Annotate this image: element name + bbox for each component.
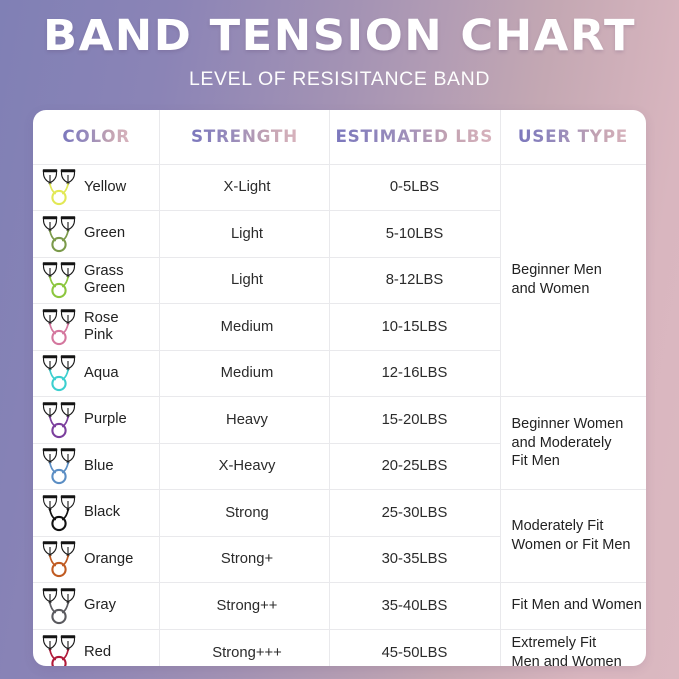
color-name-label: Green [84, 225, 125, 242]
color-cell-content: Yellow [41, 168, 159, 206]
resistance-band-icon [41, 308, 77, 346]
column-header-strength-label: STRENGTH [191, 127, 298, 146]
resistance-band-icon [41, 447, 77, 485]
color-name-label: Black [84, 504, 120, 521]
table-row: RedStrong+++45-50LBSExtremely FitMen and… [33, 629, 646, 666]
color-name-label: Aqua [84, 365, 119, 382]
cell-color: Blue [33, 443, 159, 490]
cell-strength: X-Heavy [159, 443, 329, 490]
cell-estimated-lbs: 35-40LBS [329, 583, 500, 630]
table-body: YellowX-Light0-5LBSBeginner Menand Women… [33, 164, 646, 666]
cell-color: Green [33, 211, 159, 258]
table-header: COLOR STRENGTH ESTIMATED LBS USER TYPE [33, 110, 646, 164]
table-row: GrayStrong++35-40LBSFit Men and Women [33, 583, 646, 630]
color-cell-content: Black [41, 494, 159, 532]
resistance-band-icon [41, 261, 77, 299]
cell-strength: X-Light [159, 164, 329, 211]
page-title: BAND TENSION CHART [0, 14, 679, 59]
cell-user-type: Moderately FitWomen or Fit Men [500, 490, 646, 583]
cell-strength: Light [159, 211, 329, 258]
column-header-color: COLOR [33, 110, 159, 164]
cell-user-type: Fit Men and Women [500, 583, 646, 630]
resistance-band-icon [41, 540, 77, 578]
cell-estimated-lbs: 30-35LBS [329, 536, 500, 583]
color-name-label: Blue [84, 458, 114, 475]
chart-card: COLOR STRENGTH ESTIMATED LBS USER TYPE Y… [33, 110, 646, 666]
cell-color: Gray [33, 583, 159, 630]
cell-estimated-lbs: 0-5LBS [329, 164, 500, 211]
column-header-user-type-label: USER TYPE [518, 127, 628, 146]
cell-color: Red [33, 629, 159, 666]
cell-user-type: Beginner Womenand ModeratelyFit Men [500, 397, 646, 490]
cell-color: Black [33, 490, 159, 537]
cell-strength: Strong+++ [159, 629, 329, 666]
cell-estimated-lbs: 8-12LBS [329, 257, 500, 304]
color-name-label: GrassGreen [84, 263, 125, 297]
resistance-band-icon [41, 587, 77, 625]
resistance-band-icon [41, 634, 77, 667]
column-header-user-type: USER TYPE [500, 110, 646, 164]
cell-estimated-lbs: 20-25LBS [329, 443, 500, 490]
cell-estimated-lbs: 45-50LBS [329, 629, 500, 666]
band-tension-table: COLOR STRENGTH ESTIMATED LBS USER TYPE Y… [33, 110, 646, 666]
cell-estimated-lbs: 10-15LBS [329, 304, 500, 351]
cell-strength: Light [159, 257, 329, 304]
color-cell-content: Aqua [41, 354, 159, 392]
cell-color: RosePink [33, 304, 159, 351]
cell-color: Purple [33, 397, 159, 444]
cell-color: Orange [33, 536, 159, 583]
cell-strength: Medium [159, 350, 329, 397]
color-cell-content: Blue [41, 447, 159, 485]
cell-estimated-lbs: 5-10LBS [329, 211, 500, 258]
color-cell-content: GrassGreen [41, 261, 159, 299]
cell-estimated-lbs: 15-20LBS [329, 397, 500, 444]
page-subtitle: LEVEL OF RESISITANCE BAND [0, 68, 679, 91]
table-row: PurpleHeavy15-20LBSBeginner Womenand Mod… [33, 397, 646, 444]
color-name-label: Red [84, 644, 111, 661]
cell-strength: Strong+ [159, 536, 329, 583]
table-row: YellowX-Light0-5LBSBeginner Menand Women [33, 164, 646, 211]
column-header-strength: STRENGTH [159, 110, 329, 164]
color-cell-content: Orange [41, 540, 159, 578]
color-name-label: RosePink [84, 310, 119, 344]
resistance-band-icon [41, 494, 77, 532]
table-header-row: COLOR STRENGTH ESTIMATED LBS USER TYPE [33, 110, 646, 164]
resistance-band-icon [41, 168, 77, 206]
color-name-label: Gray [84, 597, 116, 614]
cell-color: Aqua [33, 350, 159, 397]
page-header: BAND TENSION CHART LEVEL OF RESISITANCE … [0, 0, 679, 91]
cell-color: Yellow [33, 164, 159, 211]
resistance-band-icon [41, 401, 77, 439]
cell-estimated-lbs: 25-30LBS [329, 490, 500, 537]
color-cell-content: Red [41, 634, 159, 667]
color-name-label: Orange [84, 551, 133, 568]
table-row: BlackStrong25-30LBSModerately FitWomen o… [33, 490, 646, 537]
resistance-band-icon [41, 354, 77, 392]
cell-strength: Heavy [159, 397, 329, 444]
resistance-band-icon [41, 215, 77, 253]
color-cell-content: RosePink [41, 308, 159, 346]
cell-strength: Strong++ [159, 583, 329, 630]
cell-strength: Strong [159, 490, 329, 537]
cell-color: GrassGreen [33, 257, 159, 304]
cell-estimated-lbs: 12-16LBS [329, 350, 500, 397]
color-cell-content: Purple [41, 401, 159, 439]
color-cell-content: Green [41, 215, 159, 253]
column-header-estimated-lbs-label: ESTIMATED LBS [336, 127, 494, 146]
cell-user-type: Beginner Menand Women [500, 164, 646, 397]
color-name-label: Purple [84, 411, 127, 428]
column-header-estimated-lbs: ESTIMATED LBS [329, 110, 500, 164]
cell-user-type: Extremely FitMen and Women [500, 629, 646, 666]
color-cell-content: Gray [41, 587, 159, 625]
color-name-label: Yellow [84, 179, 126, 196]
cell-strength: Medium [159, 304, 329, 351]
column-header-color-label: COLOR [62, 127, 130, 146]
